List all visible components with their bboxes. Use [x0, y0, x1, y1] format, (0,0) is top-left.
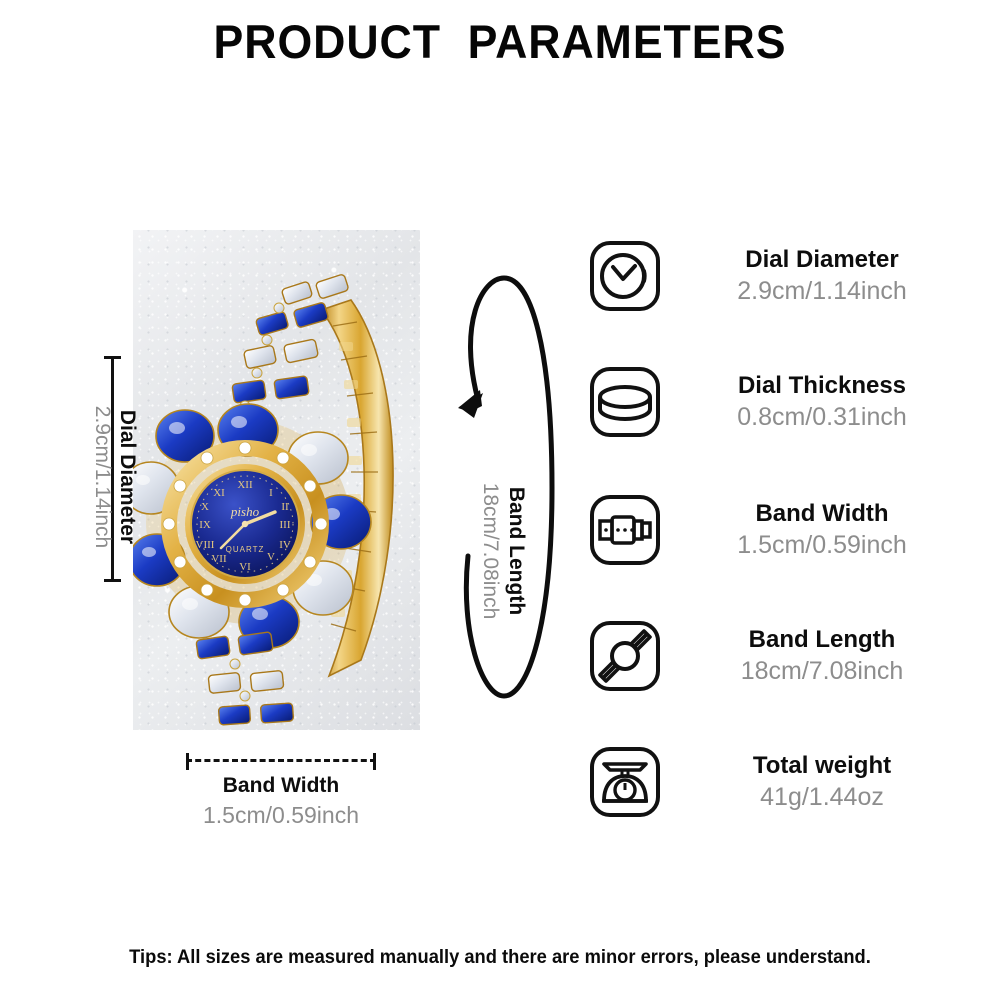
- page-title: PRODUCT PARAMETERS: [25, 14, 975, 69]
- svg-text:pisho: pisho: [230, 504, 260, 519]
- svg-text:VI: VI: [239, 561, 251, 573]
- dial-diameter-annotation-value: 2.9cm/1.14inch: [90, 352, 115, 602]
- watch-strap-buckle-icon: [588, 493, 662, 567]
- measure-dashed-line: [186, 759, 376, 762]
- spec-value: 18cm/7.08inch: [682, 655, 962, 687]
- dial-diameter-annotation-label: Dial Diameter: [115, 352, 140, 602]
- svg-text:IX: IX: [199, 519, 211, 531]
- spec-label: Dial Thickness: [682, 371, 962, 401]
- spec-text-dial-diameter: Dial Diameter 2.9cm/1.14inch: [682, 245, 968, 307]
- spec-row-dial-thickness: Dial Thickness 0.8cm/0.31inch: [588, 354, 968, 450]
- svg-text:I: I: [269, 487, 273, 499]
- watch-dial-icon: [588, 239, 662, 313]
- product-parameters-page: PRODUCT PARAMETERS: [0, 0, 1000, 1000]
- spec-row-total-weight: Total weight 41g/1.44oz: [588, 734, 968, 830]
- watch-illustration: XII III VI IX III IVV VIIVIII XXI pisho …: [133, 230, 420, 730]
- svg-text:IV: IV: [279, 539, 291, 551]
- spec-label: Band Width: [682, 499, 962, 529]
- watch-band-diagonal-icon: [588, 619, 662, 693]
- spec-label: Band Length: [682, 625, 962, 655]
- svg-text:X: X: [201, 501, 209, 513]
- spec-value: 41g/1.44oz: [682, 781, 962, 813]
- dial-diameter-annotation: Dial Diameter 2.9cm/1.14inch: [90, 352, 140, 602]
- measure-cap-right: [373, 753, 376, 770]
- svg-text:III: III: [280, 519, 291, 531]
- disc-thickness-icon: [588, 365, 662, 439]
- product-photo: XII III VI IX III IVV VIIVIII XXI pisho …: [133, 230, 420, 730]
- band-width-measure-bar: [186, 753, 376, 769]
- svg-text:VII: VII: [211, 553, 227, 565]
- band-length-annotation-label: Band Length: [503, 426, 529, 676]
- spec-text-band-length: Band Length 18cm/7.08inch: [682, 625, 968, 687]
- spec-text-total-weight: Total weight 41g/1.44oz: [682, 751, 968, 813]
- band-width-annotation-value: 1.5cm/0.59inch: [131, 800, 431, 830]
- svg-text:VIII: VIII: [196, 539, 215, 551]
- band-width-annotation: Band Width 1.5cm/0.59inch: [131, 772, 431, 830]
- spec-row-band-width: Band Width 1.5cm/0.59inch: [588, 482, 968, 578]
- spec-text-band-width: Band Width 1.5cm/0.59inch: [682, 499, 968, 561]
- band-width-annotation-label: Band Width: [131, 772, 431, 800]
- spec-label: Dial Diameter: [682, 245, 962, 275]
- svg-text:V: V: [267, 551, 275, 563]
- svg-text:II: II: [281, 501, 289, 513]
- svg-text:XI: XI: [213, 487, 225, 499]
- svg-text:XII: XII: [237, 479, 253, 491]
- band-length-annotation: Band Length 18cm/7.08inch: [477, 426, 529, 676]
- kitchen-scale-icon: [588, 745, 662, 819]
- spec-value: 2.9cm/1.14inch: [682, 275, 962, 307]
- tips-note: Tips: All sizes are measured manually an…: [30, 946, 970, 969]
- spec-row-band-length: Band Length 18cm/7.08inch: [588, 608, 968, 704]
- spec-row-dial-diameter: Dial Diameter 2.9cm/1.14inch: [588, 228, 968, 324]
- measure-cap-left: [186, 753, 189, 770]
- spec-value: 1.5cm/0.59inch: [682, 529, 962, 561]
- band-length-annotation-value: 18cm/7.08inch: [477, 426, 503, 676]
- spec-value: 0.8cm/0.31inch: [682, 401, 962, 433]
- svg-text:QUARTZ: QUARTZ: [226, 545, 265, 554]
- spec-text-dial-thickness: Dial Thickness 0.8cm/0.31inch: [682, 371, 968, 433]
- spec-label: Total weight: [682, 751, 962, 781]
